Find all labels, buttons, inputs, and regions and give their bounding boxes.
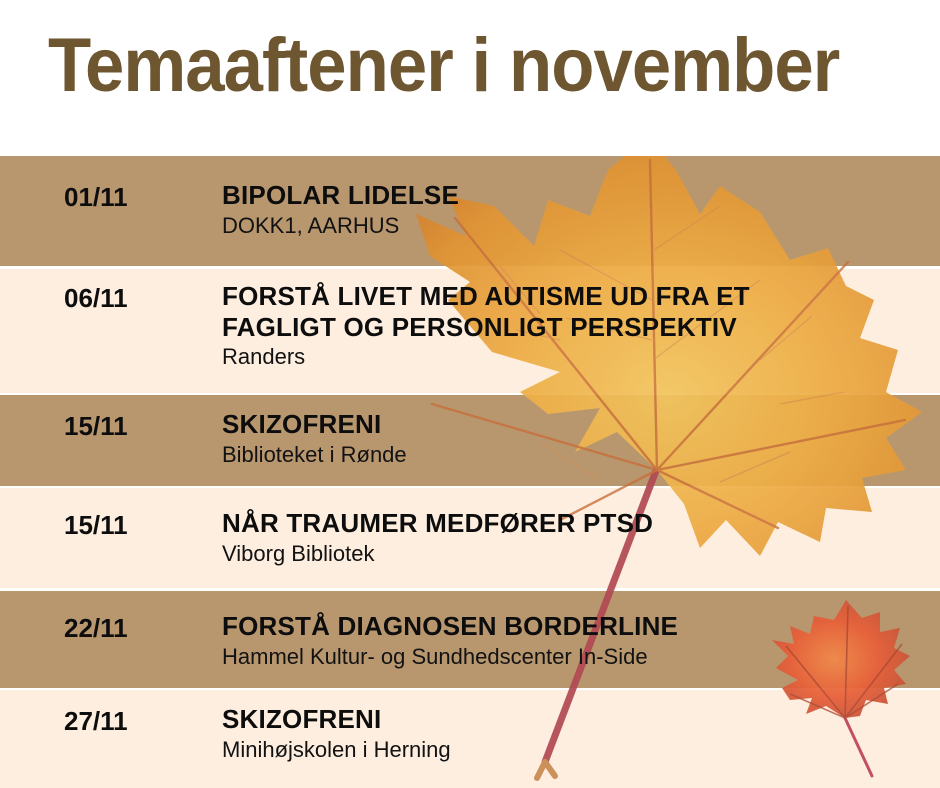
event-row-1: 01/11 BIPOLAR LIDELSE DOKK1, AARHUS	[0, 156, 940, 266]
event-date: 06/11	[64, 283, 128, 314]
event-details: BIPOLAR LIDELSE DOKK1, AARHUS	[222, 180, 930, 239]
event-title: BIPOLAR LIDELSE	[222, 180, 930, 211]
event-location: Biblioteket i Rønde	[222, 442, 930, 468]
event-date: 22/11	[64, 613, 128, 644]
event-row-5: 22/11 FORSTÅ DIAGNOSEN BORDERLINE Hammel…	[0, 591, 940, 688]
event-date: 01/11	[64, 182, 128, 213]
page-title: Temaaftener i november	[48, 28, 839, 104]
event-location: Randers	[222, 344, 930, 370]
poster-canvas: Temaaftener i november 01/11 BIPOLAR LID…	[0, 0, 940, 788]
event-date: 27/11	[64, 706, 128, 737]
event-details: SKIZOFRENI Minihøjskolen i Herning	[222, 704, 930, 763]
header-band: Temaaftener i november	[0, 0, 940, 156]
event-details: FORSTÅ DIAGNOSEN BORDERLINE Hammel Kultu…	[222, 611, 930, 670]
event-location: Viborg Bibliotek	[222, 541, 930, 567]
event-row-4: 15/11 NÅR TRAUMER MEDFØRER PTSD Viborg B…	[0, 488, 940, 588]
event-date: 15/11	[64, 411, 128, 442]
event-title: NÅR TRAUMER MEDFØRER PTSD	[222, 508, 930, 539]
event-location: DOKK1, AARHUS	[222, 213, 930, 239]
event-title: FORSTÅ LIVET MED AUTISME UD FRA ET FAGLI…	[222, 281, 930, 342]
event-row-2: 06/11 FORSTÅ LIVET MED AUTISME UD FRA ET…	[0, 269, 940, 393]
event-location: Hammel Kultur- og Sundhedscenter In-Side	[222, 644, 930, 670]
event-details: FORSTÅ LIVET MED AUTISME UD FRA ET FAGLI…	[222, 281, 930, 371]
event-title: SKIZOFRENI	[222, 409, 930, 440]
event-date: 15/11	[64, 510, 128, 541]
event-details: SKIZOFRENI Biblioteket i Rønde	[222, 409, 930, 468]
event-location: Minihøjskolen i Herning	[222, 737, 930, 763]
event-row-3: 15/11 SKIZOFRENI Biblioteket i Rønde	[0, 395, 940, 486]
event-row-6: 27/11 SKIZOFRENI Minihøjskolen i Herning	[0, 690, 940, 788]
event-details: NÅR TRAUMER MEDFØRER PTSD Viborg Bibliot…	[222, 508, 930, 567]
event-title: SKIZOFRENI	[222, 704, 930, 735]
event-title: FORSTÅ DIAGNOSEN BORDERLINE	[222, 611, 930, 642]
